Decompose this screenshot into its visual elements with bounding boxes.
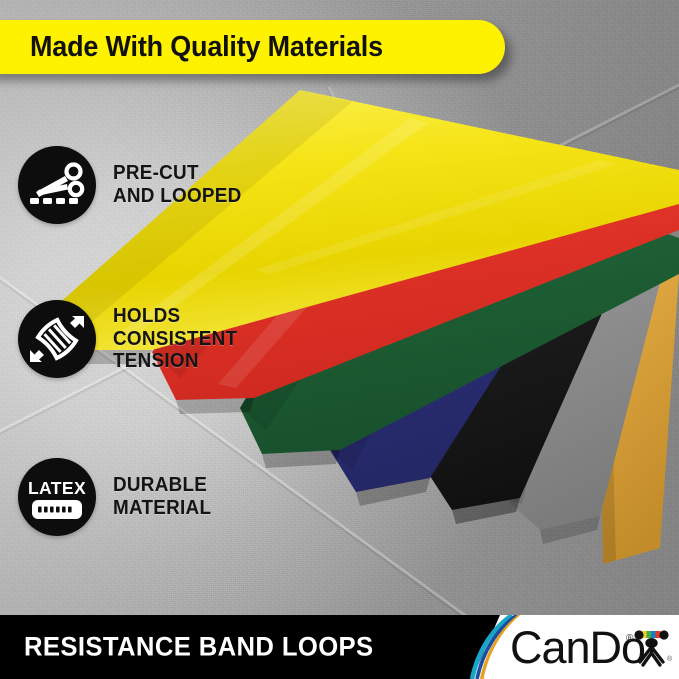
figure-registered-mark: ® [667, 655, 673, 663]
feature-line: TENSION [113, 350, 237, 373]
brand-name-text: CanDo [510, 622, 645, 673]
feature-line: CONSISTENT [113, 328, 237, 351]
footer-bar: RESISTANCE BAND LOOPS CanDo ® [0, 615, 679, 679]
feature-line: HOLDS [113, 305, 237, 328]
brand-wordmark: CanDo ® ® [510, 621, 678, 675]
feature-line: MATERIAL [113, 497, 211, 520]
feature-pre-cut: PRE-CUT AND LOOPED [18, 146, 253, 224]
feature-line: AND LOOPED [113, 185, 242, 208]
quality-banner-text: Made With Quality Materials [30, 31, 383, 64]
feature-tension-text: HOLDS CONSISTENT TENSION [113, 305, 237, 374]
feature-pre-cut-text: PRE-CUT AND LOOPED [113, 162, 242, 208]
latex-band-icon: LATEX [18, 458, 96, 536]
product-marketing-image: Made With Quality Materials [0, 0, 679, 679]
quality-banner: Made With Quality Materials [0, 20, 505, 74]
brand-logo-panel: CanDo ® ® [466, 615, 679, 679]
feature-durable-text: DURABLE MATERIAL [113, 474, 211, 520]
latex-icon-label: LATEX [28, 478, 86, 498]
scissors-cut-line-icon [18, 146, 96, 224]
footer-title: RESISTANCE BAND LOOPS [24, 632, 374, 663]
feature-line: DURABLE [113, 474, 211, 497]
registered-mark: ® [626, 633, 634, 644]
feature-line: PRE-CUT [113, 162, 242, 185]
feature-durable: LATEX DURABLE MATERIAL [18, 458, 220, 536]
feature-tension: HOLDS CONSISTENT TENSION [18, 300, 248, 378]
stretch-tension-arrows-icon [18, 300, 96, 378]
